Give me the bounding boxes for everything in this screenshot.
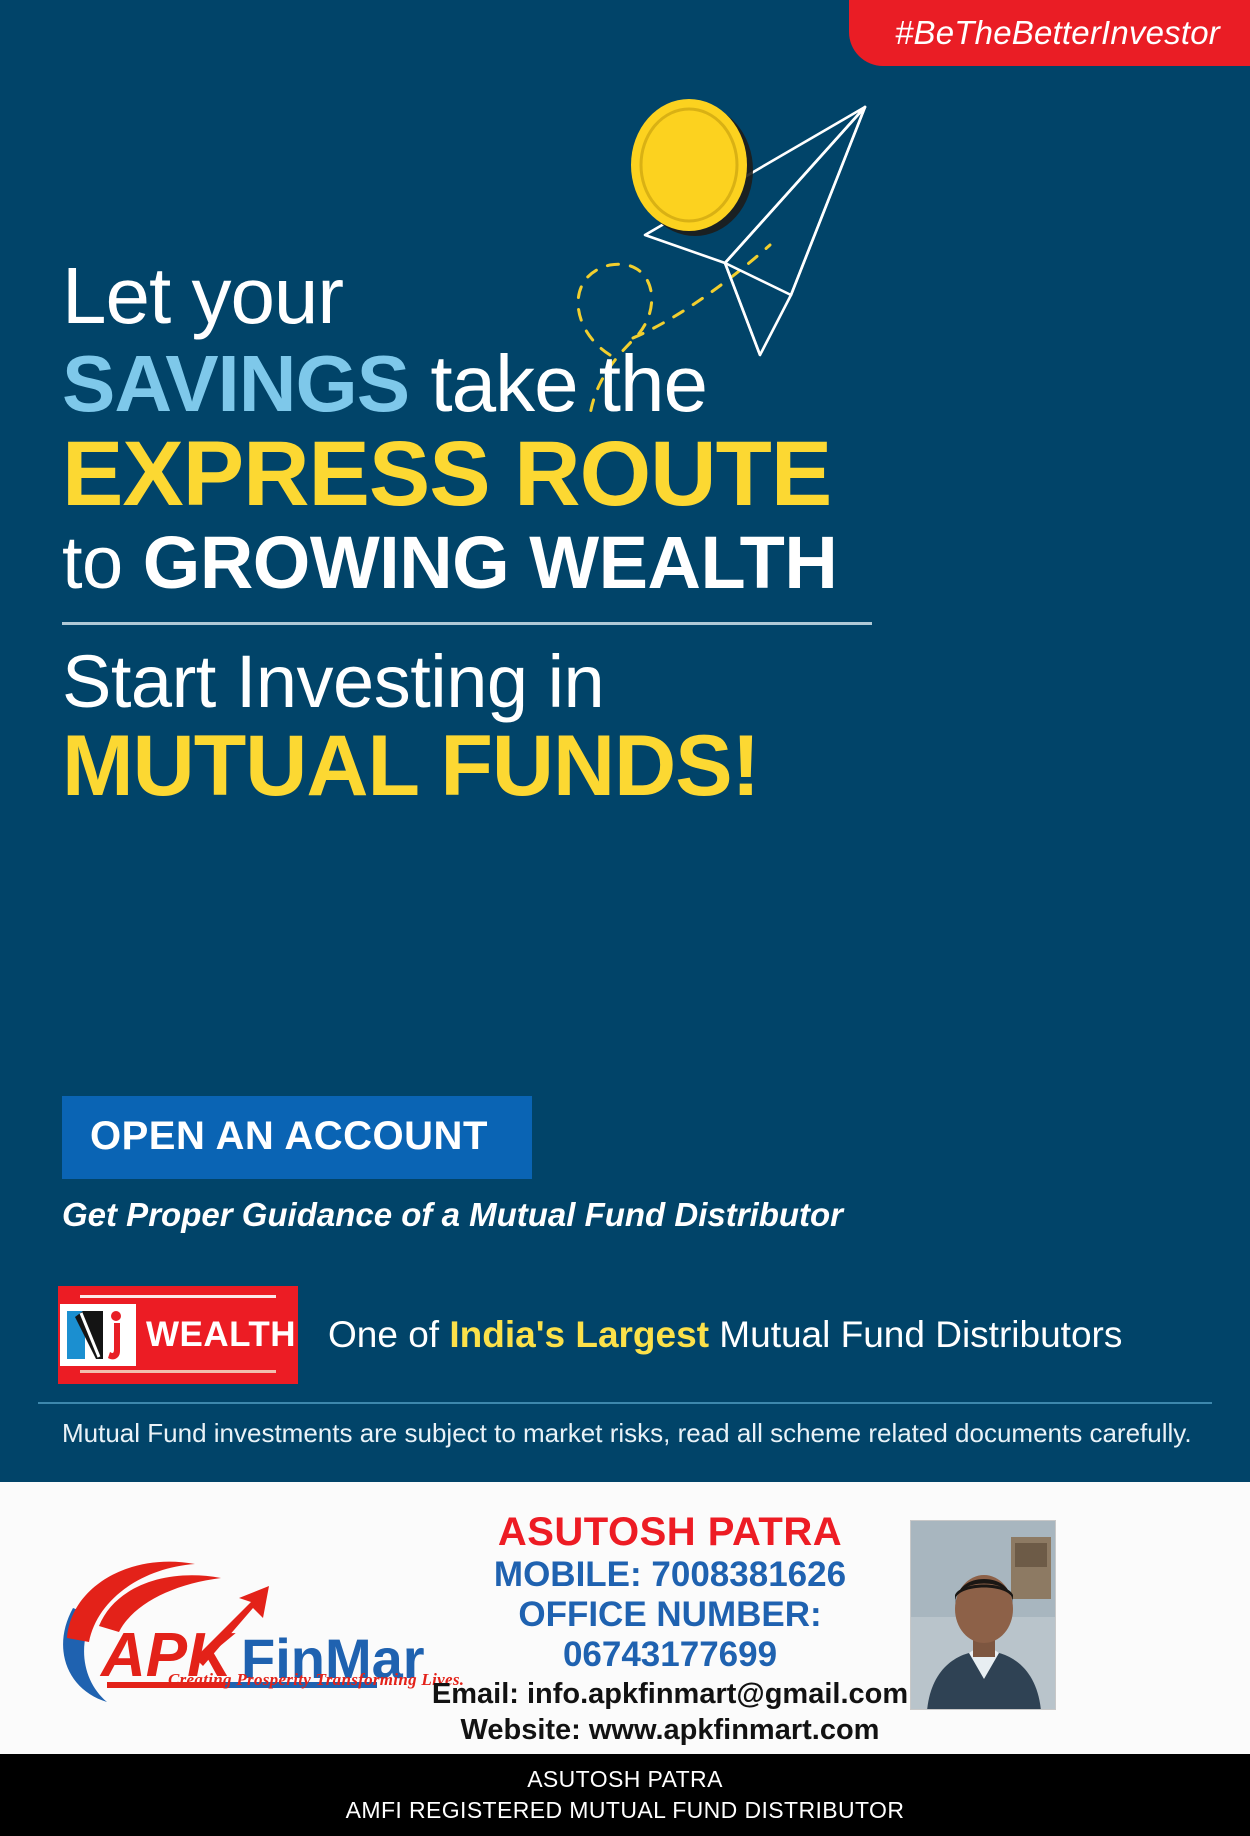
footer-section: APK FinMart Creating Prosperity Transfor…: [0, 1482, 1250, 1754]
nj-tag-highlight: India's Largest: [449, 1314, 709, 1355]
headline-line-4: to GROWING WEALTH: [62, 526, 962, 600]
apk-brand-tagline: Creating Prosperity Transforming Lives.: [168, 1670, 464, 1690]
bottom-bar-registration: AMFI REGISTERED MUTUAL FUND DISTRIBUTOR: [346, 1797, 905, 1824]
contact-mobile[interactable]: MOBILE: 7008381626: [430, 1555, 910, 1595]
headline-divider: [62, 622, 872, 625]
nj-rule-top: [80, 1295, 276, 1298]
poster-root: #BeTheBetterInvestor: [0, 0, 1250, 1836]
headline-block: Let your SAVINGS take the EXPRESS ROUTE …: [62, 256, 962, 809]
open-account-label: OPEN AN ACCOUNT: [90, 1114, 488, 1158]
risk-disclaimer: Mutual Fund investments are subject to m…: [62, 1418, 1192, 1449]
open-account-button[interactable]: OPEN AN ACCOUNT: [62, 1096, 532, 1179]
headline-savings-word: SAVINGS: [62, 339, 409, 428]
nj-wealth-row: WEALTH One of India's Largest Mutual Fun…: [58, 1286, 1122, 1384]
contact-website[interactable]: Website: www.apkfinmart.com: [430, 1712, 910, 1748]
nj-tag-rest: Mutual Fund Distributors: [709, 1314, 1122, 1355]
bottom-bar: ASUTOSH PATRA AMFI REGISTERED MUTUAL FUN…: [0, 1754, 1250, 1836]
hashtag-banner: #BeTheBetterInvestor: [849, 0, 1250, 66]
contact-name: ASUTOSH PATRA: [430, 1510, 910, 1555]
contact-office[interactable]: OFFICE NUMBER: 06743177699: [430, 1595, 910, 1676]
hashtag-text: #BeTheBetterInvestor: [895, 14, 1220, 52]
headline-take-the: take the: [409, 339, 707, 428]
avatar: [910, 1520, 1056, 1710]
nj-tag-one-of: One of: [328, 1314, 449, 1355]
headline-start-investing: Start Investing in: [62, 645, 962, 719]
disclaimer-divider: [38, 1402, 1212, 1404]
nj-rule-bottom: [80, 1370, 276, 1373]
contact-block: ASUTOSH PATRA MOBILE: 7008381626 OFFICE …: [430, 1510, 910, 1748]
guidance-text: Get Proper Guidance of a Mutual Fund Dis…: [62, 1196, 843, 1234]
bottom-bar-name: ASUTOSH PATRA: [527, 1766, 723, 1793]
contact-email[interactable]: Email: info.apkfinmart@gmail.com: [430, 1676, 910, 1712]
headline-mutual-funds: MUTUAL FUNDS!: [62, 723, 962, 809]
headline-express-route: EXPRESS ROUTE: [62, 428, 962, 520]
nj-tagline: One of India's Largest Mutual Fund Distr…: [328, 1314, 1122, 1356]
nj-wealth-word: WEALTH: [146, 1315, 296, 1355]
nj-logo-inner: WEALTH: [60, 1304, 296, 1366]
headline-growing-wealth: GROWING WEALTH: [143, 521, 838, 604]
headline-to-word: to: [62, 521, 143, 604]
headline-line-1: Let your: [62, 256, 962, 336]
headline-line-2: SAVINGS take the: [62, 344, 962, 424]
hero-section: #BeTheBetterInvestor: [0, 0, 1250, 1482]
nj-wealth-logo: WEALTH: [58, 1286, 298, 1384]
nj-monogram-icon: [60, 1304, 136, 1366]
